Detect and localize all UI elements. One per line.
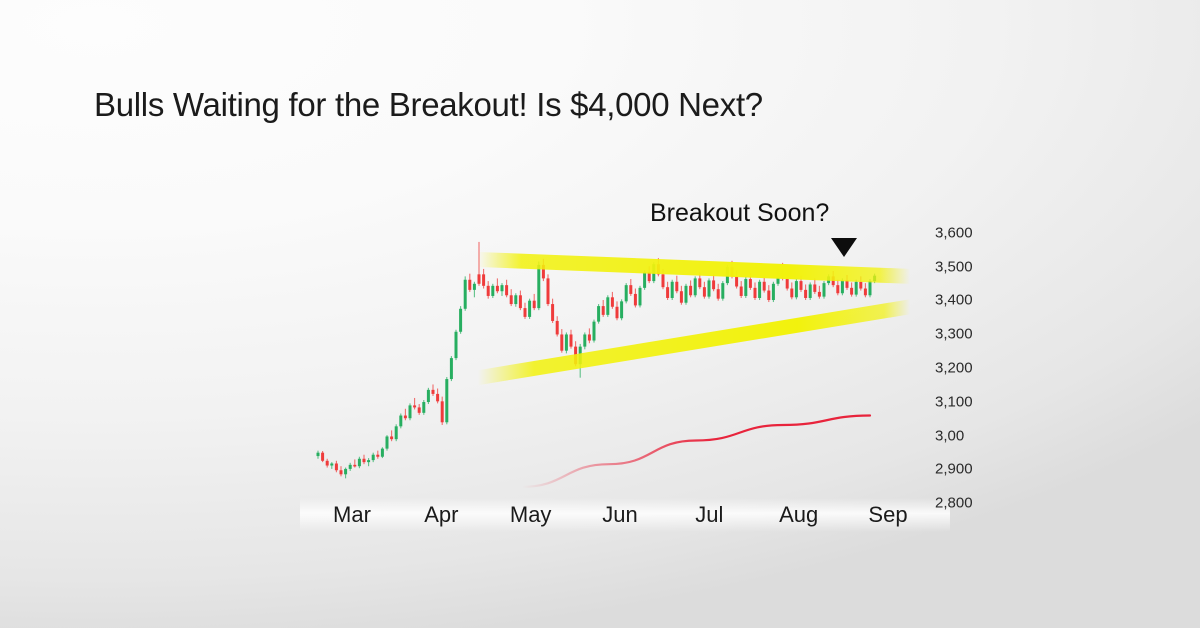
candle-body (524, 308, 527, 317)
candle-body (629, 285, 632, 294)
candle-body (422, 402, 425, 413)
candle-body (850, 288, 853, 295)
candle-body (464, 280, 467, 309)
candle-body (864, 289, 867, 296)
candle-body (680, 291, 683, 302)
candle-body (703, 287, 706, 296)
candle-body (597, 306, 600, 322)
candle-body (846, 280, 849, 287)
candle-body (758, 282, 761, 298)
candle-body (501, 285, 504, 291)
candle-body (786, 278, 789, 288)
candle-body (358, 459, 361, 466)
candle-body (381, 449, 384, 457)
candle-body (418, 407, 421, 412)
candle-body (694, 278, 697, 295)
candle-body (390, 436, 393, 439)
candle-body (404, 416, 407, 419)
candle-body (455, 332, 458, 358)
y-axis-tick: 3,200 (935, 360, 973, 377)
candle-body (468, 280, 471, 290)
candle-body (321, 453, 324, 461)
candle-body (349, 465, 352, 469)
candle-body (717, 289, 720, 298)
candle-body (685, 286, 688, 303)
x-axis: MarAprMayJunJulAugSep (310, 502, 930, 542)
candle-body (570, 334, 573, 346)
moving-average-path (522, 416, 870, 487)
candle-body (487, 286, 490, 296)
infographic-canvas: Bulls Waiting for the Breakout! Is $4,00… (0, 0, 1200, 628)
candle-body (482, 274, 485, 285)
candle-body (588, 334, 591, 340)
candle-body (620, 301, 623, 318)
candle-body (790, 289, 793, 298)
candle-body (841, 280, 844, 293)
candle-body (514, 295, 517, 304)
candle-body (344, 469, 347, 474)
candle-body (547, 278, 550, 304)
y-axis-tick: 3,500 (935, 258, 973, 275)
candle-body (708, 280, 711, 296)
candle-body (666, 287, 669, 298)
candle-body (800, 281, 803, 290)
candle-body (528, 301, 531, 317)
y-axis-tick: 2,900 (935, 461, 973, 478)
candle-body (533, 301, 536, 308)
candle-body (330, 463, 333, 465)
y-axis-tick: 3,600 (935, 224, 973, 241)
candle-body (809, 284, 812, 298)
candle-body (818, 292, 821, 297)
candle-body (593, 322, 596, 341)
x-axis-tick: Mar (333, 502, 371, 528)
y-axis-tick: 3,100 (935, 393, 973, 410)
x-axis-tick: May (510, 502, 552, 528)
candle-body (616, 307, 619, 318)
candle-body (367, 460, 370, 462)
candle-body (565, 334, 568, 350)
candle-body (436, 394, 439, 401)
candle-body (473, 284, 476, 290)
candle-body (813, 284, 816, 291)
candlestick-chart: 3,6003,5003,4003,3003,2003,1003,002,9002… (290, 180, 990, 540)
candle-body (395, 426, 398, 439)
candle-body (662, 274, 665, 287)
candle-body (767, 291, 770, 300)
x-axis-tick: Jul (695, 502, 723, 528)
y-axis-tick: 3,300 (935, 326, 973, 343)
candle-body (386, 436, 389, 448)
x-axis-tick: Aug (779, 502, 818, 528)
candle-body (413, 405, 416, 407)
candle-body (519, 295, 522, 308)
candle-body (675, 282, 678, 291)
candle-body (625, 285, 628, 301)
candle-body (353, 465, 356, 467)
candle-body (602, 306, 605, 315)
candle-body (744, 279, 747, 296)
candle-body (689, 286, 692, 295)
candle-body (823, 283, 826, 297)
candle-body (551, 304, 554, 321)
triangle-down-icon (831, 238, 857, 257)
candle-body (409, 405, 412, 418)
candle-body (859, 282, 862, 289)
y-axis-tick: 3,400 (935, 292, 973, 309)
candle-body (510, 295, 513, 304)
candle-body (804, 290, 807, 298)
candle-body (317, 453, 320, 456)
candle-body (432, 390, 435, 394)
candle-body (537, 265, 540, 308)
candle-body (735, 276, 738, 286)
candle-body (795, 281, 798, 297)
annotation-label: Breakout Soon? (650, 199, 829, 228)
candle-body (496, 286, 499, 291)
candle-body (326, 461, 329, 466)
candle-body (836, 285, 839, 293)
candle-body (763, 282, 766, 291)
candle-body (606, 297, 609, 315)
y-axis: 3,6003,5003,4003,3003,2003,1003,002,9002… (935, 198, 1010, 528)
chart-svg (290, 180, 910, 520)
candle-body (671, 282, 674, 298)
candle-body (376, 455, 379, 457)
candle-body (445, 379, 448, 422)
candle-body (427, 390, 430, 402)
candle-body (611, 297, 614, 306)
y-axis-tick: 3,00 (935, 427, 964, 444)
chart-plot-area (290, 180, 910, 520)
candle-body (399, 416, 402, 427)
candle-body (583, 334, 586, 346)
candle-body (560, 334, 563, 350)
candle-body (556, 321, 559, 335)
candle-body (505, 285, 508, 295)
candle-body (639, 288, 642, 306)
x-axis-tick: Jun (602, 502, 637, 528)
candle-body (441, 401, 444, 422)
candle-body (634, 294, 637, 305)
candle-body (643, 272, 646, 288)
candle-body (450, 358, 453, 379)
candle-body (772, 284, 775, 300)
candle-body (478, 274, 481, 283)
candle-body (698, 278, 701, 287)
x-axis-tick: Sep (868, 502, 907, 528)
x-axis-tick: Apr (424, 502, 458, 528)
lower-support-trendline (478, 299, 910, 385)
candle-body (754, 288, 757, 298)
candle-body (459, 309, 462, 332)
candle-body (335, 463, 338, 470)
candle-body (372, 455, 375, 460)
y-axis-tick: 2,800 (935, 495, 973, 512)
candle-body (363, 459, 366, 462)
candle-body (712, 280, 715, 289)
candle-body (749, 279, 752, 288)
candle-body (855, 282, 858, 295)
candle-body (340, 470, 343, 474)
page-title: Bulls Waiting for the Breakout! Is $4,00… (94, 86, 763, 124)
candle-body (740, 286, 743, 295)
candle-body (869, 281, 872, 295)
moving-average-line (522, 416, 870, 487)
candle-body (721, 283, 724, 299)
candle-body (491, 286, 494, 296)
